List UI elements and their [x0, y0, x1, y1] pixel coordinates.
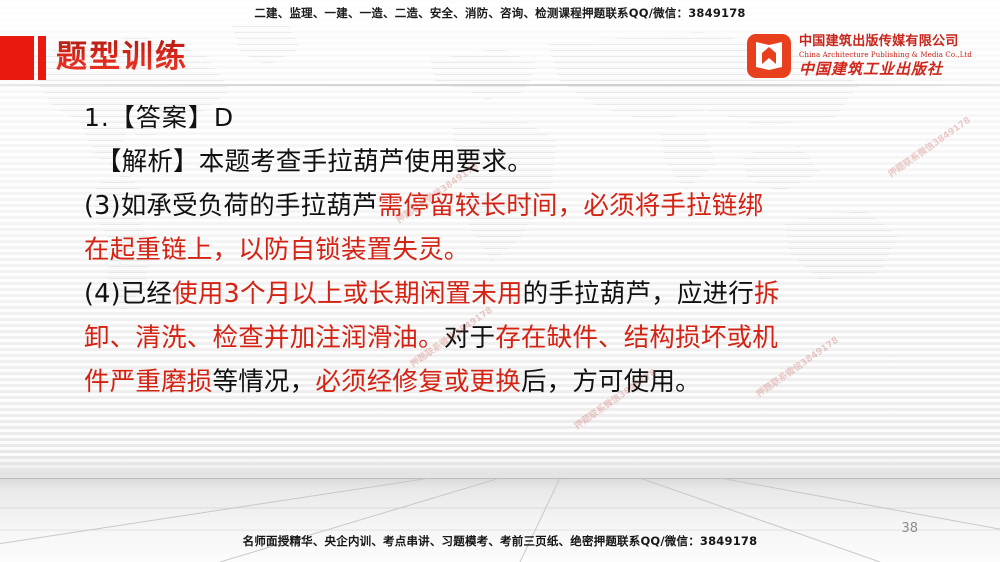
footer-banner: 名师面授精华、央企内训、考点串讲、习题模考、考前三页纸、绝密押题联系QQ/微信：…: [0, 533, 1000, 549]
point4-line1-red-b: 使用3个月以上或长期闲置未用: [172, 279, 523, 309]
point4-line3-black-b: 等情况，: [213, 367, 316, 397]
logo-imprint-cn: 中国建筑工业出版社: [799, 60, 972, 79]
point4-line2: 卸、清洗、检查并加注润滑油。对于存在缺件、结构损坏或机: [84, 316, 914, 360]
page-number: 38: [901, 521, 918, 536]
title-square-accent: [0, 36, 34, 80]
logo-company-en: China Architecture Publishing & Media Co…: [799, 50, 972, 60]
point4-line3-black-d: 后，方可使用。: [521, 367, 701, 397]
point3-line1: (3)如承受负荷的手拉葫芦需停留较长时间，必须将手拉链绑: [84, 184, 914, 228]
publisher-logo-text: 中国建筑出版传媒有限公司 China Architecture Publishi…: [799, 34, 972, 79]
top-banner: 二建、监理、一建、一造、二造、安全、消防、咨询、检测课程押题联系QQ/微信：38…: [0, 0, 1000, 26]
point4-line2-black-b: 对于: [444, 323, 495, 353]
open-book-logo-icon: [746, 33, 792, 79]
point3-line2: 在起重链上，以防自锁装置失灵。: [84, 228, 914, 272]
slide-body: 1.【答案】D 【解析】本题考查手拉葫芦使用要求。 (3)如承受负荷的手拉葫芦需…: [84, 96, 914, 404]
title-underline: [0, 84, 1000, 86]
point4-line2-red-a: 卸、清洗、检查并加注润滑油。: [84, 323, 444, 353]
logo-company-cn: 中国建筑出版传媒有限公司: [799, 34, 972, 50]
point3-line1-black: (3)如承受负荷的手拉葫芦: [84, 191, 378, 221]
point4-line1: (4)已经使用3个月以上或长期闲置未用的手拉葫芦，应进行拆: [84, 272, 914, 316]
title-bar-accent: [38, 36, 46, 80]
point4-line3-red-a: 件严重磨损: [84, 367, 213, 397]
analysis-line: 【解析】本题考查手拉葫芦使用要求。: [84, 140, 914, 184]
top-banner-text: 二建、监理、一建、一造、二造、安全、消防、咨询、检测课程押题联系QQ/微信：38…: [254, 5, 745, 21]
point4-line3-red-c: 必须经修复或更换: [315, 367, 521, 397]
point4-line1-black-a: (4)已经: [84, 279, 172, 309]
point3-line1-red: 需停留较长时间，必须将手拉链绑: [378, 191, 764, 221]
point4-line1-red-d: 拆: [754, 279, 780, 309]
page-title: 题型训练: [56, 34, 188, 80]
slide-canvas: 二建、监理、一建、一造、二造、安全、消防、咨询、检测课程押题联系QQ/微信：38…: [0, 0, 1000, 562]
footer-text: 名师面授精华、央企内训、考点串讲、习题模考、考前三页纸、绝密押题联系QQ/微信：…: [243, 533, 758, 549]
background-band: [0, 455, 1000, 479]
point3-line2-red: 在起重链上，以防自锁装置失灵。: [84, 235, 470, 265]
point4-line1-black-c: 的手拉葫芦，应进行: [523, 279, 754, 309]
publisher-logo: 中国建筑出版传媒有限公司 China Architecture Publishi…: [746, 33, 972, 79]
perspective-floor: [0, 478, 1000, 562]
point4-line2-red-c: 存在缺件、结构损坏或机: [495, 323, 778, 353]
point4-line3: 件严重磨损等情况，必须经修复或更换后，方可使用。: [84, 360, 914, 404]
answer-line: 1.【答案】D: [84, 96, 914, 140]
